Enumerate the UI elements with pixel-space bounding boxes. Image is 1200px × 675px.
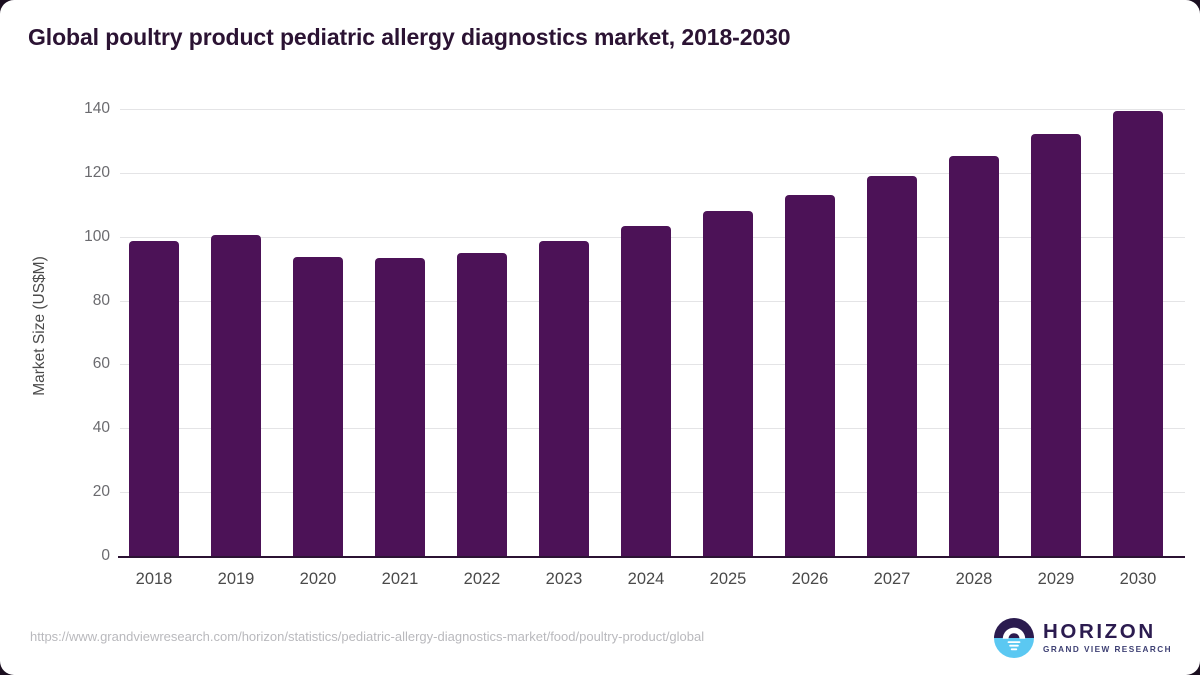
y-axis-title: Market Size (US$M) bbox=[31, 126, 49, 526]
bar[interactable] bbox=[785, 195, 835, 556]
x-axis-tick-label: 2021 bbox=[359, 570, 441, 589]
x-axis-tick-label: 2020 bbox=[277, 570, 359, 589]
gridline bbox=[120, 109, 1185, 110]
x-axis-tick-label: 2028 bbox=[933, 570, 1015, 589]
bar[interactable] bbox=[621, 226, 671, 556]
horizon-logo-tagline: GRAND VIEW RESEARCH bbox=[1043, 646, 1172, 654]
chart-canvas: Global poultry product pediatric allergy… bbox=[0, 0, 1200, 675]
gridline bbox=[120, 173, 1185, 174]
y-axis-tick-label: 120 bbox=[20, 164, 110, 182]
y-axis-tick-label: 40 bbox=[20, 419, 110, 437]
x-axis-line bbox=[118, 556, 1185, 558]
bar[interactable] bbox=[1113, 111, 1163, 556]
x-axis-tick-label: 2024 bbox=[605, 570, 687, 589]
bar[interactable] bbox=[293, 257, 343, 556]
horizon-logo-icon bbox=[994, 618, 1034, 658]
x-axis-tick-label: 2018 bbox=[113, 570, 195, 589]
y-axis-tick-label: 60 bbox=[20, 355, 110, 373]
x-axis-tick-label: 2029 bbox=[1015, 570, 1097, 589]
source-url[interactable]: https://www.grandviewresearch.com/horizo… bbox=[30, 629, 704, 644]
bar[interactable] bbox=[867, 176, 917, 556]
horizon-logo-text: HORIZON GRAND VIEW RESEARCH bbox=[1043, 622, 1172, 655]
x-axis-tick-label: 2027 bbox=[851, 570, 933, 589]
bar[interactable] bbox=[539, 241, 589, 556]
horizon-logo: HORIZON GRAND VIEW RESEARCH bbox=[994, 618, 1172, 658]
y-axis-tick-label: 0 bbox=[20, 547, 110, 565]
bar[interactable] bbox=[129, 241, 179, 556]
x-axis-tick-label: 2026 bbox=[769, 570, 851, 589]
x-axis-tick-label: 2023 bbox=[523, 570, 605, 589]
bar[interactable] bbox=[1031, 134, 1081, 556]
bar[interactable] bbox=[949, 156, 999, 556]
bar[interactable] bbox=[457, 253, 507, 556]
y-axis-tick-label: 80 bbox=[20, 292, 110, 310]
x-axis-tick-label: 2030 bbox=[1097, 570, 1179, 589]
bar[interactable] bbox=[375, 258, 425, 556]
y-axis-tick-label: 100 bbox=[20, 228, 110, 246]
x-axis-tick-label: 2025 bbox=[687, 570, 769, 589]
x-axis-tick-label: 2019 bbox=[195, 570, 277, 589]
y-axis-tick-label: 20 bbox=[20, 483, 110, 501]
horizon-logo-word: HORIZON bbox=[1043, 622, 1172, 643]
plot-area: Market Size (US$M) 020406080100120140 20… bbox=[0, 0, 1200, 675]
x-axis-tick-label: 2022 bbox=[441, 570, 523, 589]
bar[interactable] bbox=[703, 211, 753, 556]
y-axis-tick-label: 140 bbox=[20, 100, 110, 118]
bar[interactable] bbox=[211, 235, 261, 556]
